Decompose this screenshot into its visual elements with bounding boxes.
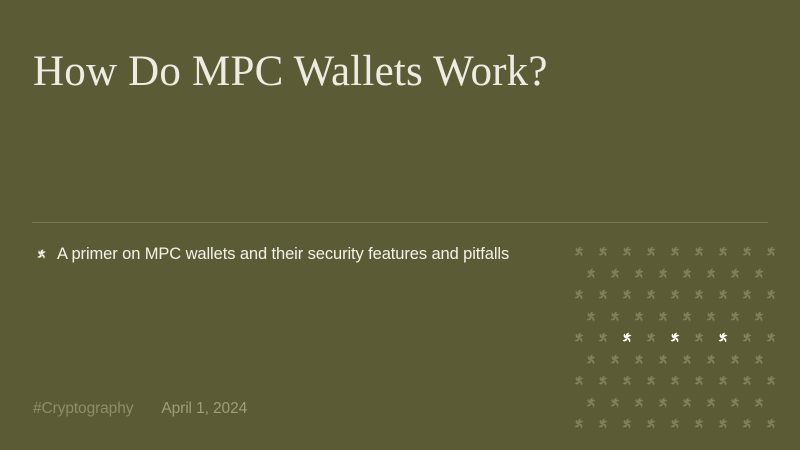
pinwheel-icon	[570, 329, 588, 347]
pinwheel-icon	[666, 329, 684, 347]
pinwheel-icon	[702, 394, 720, 412]
pinwheel-icon	[738, 243, 756, 261]
pinwheel-icon	[618, 372, 636, 390]
pinwheel-icon	[726, 351, 744, 369]
pinwheel-icon	[762, 415, 780, 433]
pinwheel-icon	[618, 415, 636, 433]
pinwheel-icon	[690, 243, 708, 261]
pinwheel-icon	[678, 265, 696, 283]
pinwheel-icon	[762, 286, 780, 304]
footer: #Cryptography April 1, 2024	[33, 400, 247, 418]
pinwheel-icon	[690, 372, 708, 390]
pinwheel-icon	[762, 243, 780, 261]
pinwheel-icon	[738, 329, 756, 347]
pinwheel-icon	[654, 308, 672, 326]
pinwheel-icon	[702, 265, 720, 283]
pinwheel-icon	[582, 351, 600, 369]
pinwheel-icon	[666, 415, 684, 433]
pinwheel-icon	[750, 394, 768, 412]
pinwheel-icon	[666, 243, 684, 261]
pinwheel-icon	[618, 243, 636, 261]
pinwheel-icon	[738, 415, 756, 433]
pinwheel-icon	[714, 372, 732, 390]
pinwheel-icon	[594, 286, 612, 304]
pinwheel-pattern-row	[570, 329, 780, 347]
pinwheel-icon	[606, 351, 624, 369]
pinwheel-pattern-row	[582, 394, 768, 412]
pinwheel-icon	[582, 394, 600, 412]
footer-topic-tag: #Cryptography	[33, 400, 133, 418]
pinwheel-icon	[690, 415, 708, 433]
pinwheel-icon	[606, 394, 624, 412]
subtitle-block: A primer on MPC wallets and their securi…	[33, 243, 533, 267]
pinwheel-icon	[606, 265, 624, 283]
pinwheel-icon	[750, 265, 768, 283]
pinwheel-icon	[570, 372, 588, 390]
pinwheel-icon	[642, 415, 660, 433]
pinwheel-icon	[702, 351, 720, 369]
pinwheel-icon	[678, 351, 696, 369]
footer-date: April 1, 2024	[161, 400, 247, 418]
pinwheel-icon	[570, 415, 588, 433]
pinwheel-pattern-row	[570, 372, 780, 390]
pinwheel-icon	[642, 372, 660, 390]
pinwheel-icon	[654, 265, 672, 283]
pinwheel-icon	[750, 351, 768, 369]
pinwheel-icon	[642, 286, 660, 304]
pinwheel-icon	[678, 308, 696, 326]
pinwheel-icon	[642, 329, 660, 347]
pinwheel-icon	[33, 246, 50, 263]
horizontal-divider	[32, 222, 768, 223]
pinwheel-icon	[570, 286, 588, 304]
pinwheel-icon	[762, 372, 780, 390]
pinwheel-icon	[678, 394, 696, 412]
pinwheel-icon	[582, 308, 600, 326]
pinwheel-icon	[726, 394, 744, 412]
pinwheel-icon	[606, 308, 624, 326]
pinwheel-icon	[654, 351, 672, 369]
pinwheel-icon	[630, 265, 648, 283]
page-title: How Do MPC Wallets Work?	[33, 47, 633, 96]
pinwheel-icon	[714, 329, 732, 347]
pinwheel-icon	[570, 243, 588, 261]
subtitle-text: A primer on MPC wallets and their securi…	[57, 243, 509, 267]
pinwheel-icon	[594, 372, 612, 390]
pinwheel-icon	[738, 372, 756, 390]
pinwheel-pattern-row	[582, 351, 768, 369]
pinwheel-pattern-decoration	[570, 243, 785, 418]
pinwheel-icon	[714, 243, 732, 261]
pinwheel-pattern-row	[570, 415, 780, 433]
slide-canvas: How Do MPC Wallets Work? A primer on MPC…	[0, 0, 800, 450]
pinwheel-pattern-row	[582, 265, 768, 283]
pinwheel-icon	[654, 394, 672, 412]
pinwheel-icon	[642, 243, 660, 261]
pinwheel-icon	[582, 265, 600, 283]
pinwheel-icon	[762, 329, 780, 347]
pinwheel-icon	[714, 286, 732, 304]
pinwheel-icon	[594, 415, 612, 433]
pinwheel-icon	[738, 286, 756, 304]
pinwheel-icon	[750, 308, 768, 326]
pinwheel-icon	[630, 351, 648, 369]
pinwheel-icon	[690, 286, 708, 304]
pinwheel-icon	[726, 265, 744, 283]
pinwheel-pattern-row	[570, 286, 780, 304]
pinwheel-icon	[594, 329, 612, 347]
pinwheel-icon	[702, 308, 720, 326]
pinwheel-icon	[630, 308, 648, 326]
pinwheel-icon	[594, 243, 612, 261]
pinwheel-icon	[630, 394, 648, 412]
pinwheel-icon	[714, 415, 732, 433]
pinwheel-icon	[618, 329, 636, 347]
pinwheel-icon	[618, 286, 636, 304]
pinwheel-pattern-row	[582, 308, 768, 326]
pinwheel-pattern-row	[570, 243, 780, 261]
pinwheel-icon	[726, 308, 744, 326]
pinwheel-icon	[690, 329, 708, 347]
pinwheel-icon	[666, 372, 684, 390]
pinwheel-icon	[666, 286, 684, 304]
